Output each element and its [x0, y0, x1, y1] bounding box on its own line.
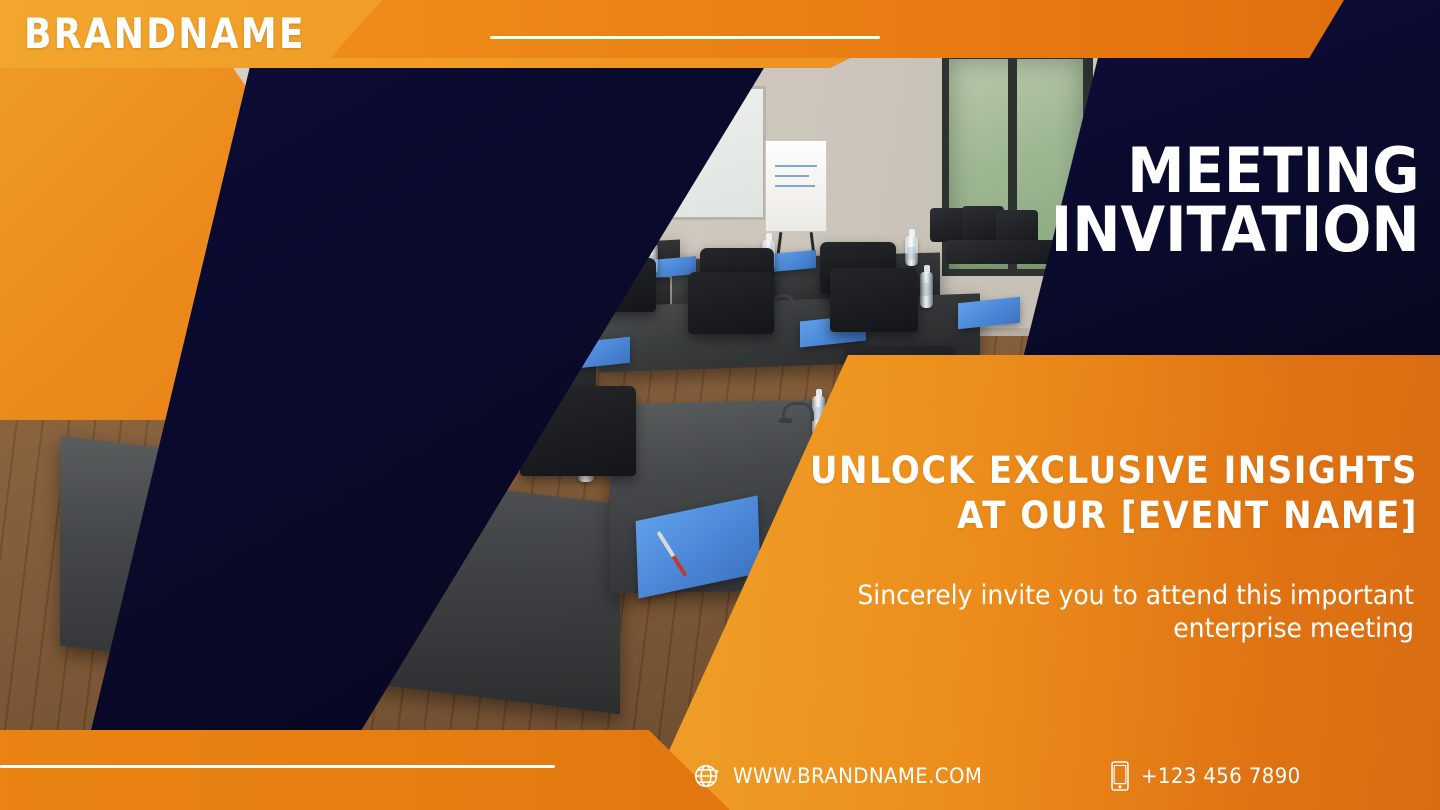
- globe-icon: [692, 761, 722, 791]
- mobile-phone-icon: [1110, 760, 1130, 792]
- subtext-line-1: Sincerely invite you to attend this impo…: [819, 580, 1414, 613]
- website-contact[interactable]: WWW.BRANDNAME.COM: [692, 761, 998, 791]
- microphone-front-b: [782, 402, 814, 421]
- subtext-line-2: enterprise meeting: [819, 613, 1414, 646]
- header-dark-orange-bar: [330, 0, 1350, 58]
- brand-logo-text: BRANDNAME: [24, 9, 306, 58]
- poster-subtext: Sincerely invite you to attend this impo…: [819, 580, 1414, 646]
- stacked-chair-4: [946, 240, 1056, 264]
- flipchart-board: [765, 140, 827, 232]
- headline-line-2: AT OUR [EVENT NAME]: [810, 493, 1418, 538]
- chair-row4-c: [688, 272, 774, 334]
- poster-title: MEETING INVITATION: [1051, 142, 1420, 260]
- meeting-invitation-poster: BRANDNAME MEETING INVITATION UNLOCK EXCL…: [0, 0, 1440, 810]
- chair-row4-d: [830, 268, 918, 332]
- footer-contacts: WWW.BRANDNAME.COM +123 456 7890: [692, 760, 1311, 792]
- footer-white-rule: [0, 765, 555, 768]
- headline-line-1: UNLOCK EXCLUSIVE INSIGHTS: [810, 448, 1418, 493]
- phone-contact[interactable]: +123 456 7890: [1110, 760, 1311, 792]
- footer-orange-band: [0, 730, 740, 810]
- header-white-rule: [490, 36, 880, 39]
- title-line-2: INVITATION: [1051, 201, 1420, 260]
- bottle-row3-d: [920, 272, 933, 308]
- poster-headline: UNLOCK EXCLUSIVE INSIGHTS AT OUR [EVENT …: [810, 448, 1418, 538]
- bottle-row2-d: [905, 236, 918, 266]
- website-label: WWW.BRANDNAME.COM: [733, 764, 982, 788]
- stacked-chair-3: [996, 210, 1038, 244]
- phone-label: +123 456 7890: [1141, 764, 1301, 788]
